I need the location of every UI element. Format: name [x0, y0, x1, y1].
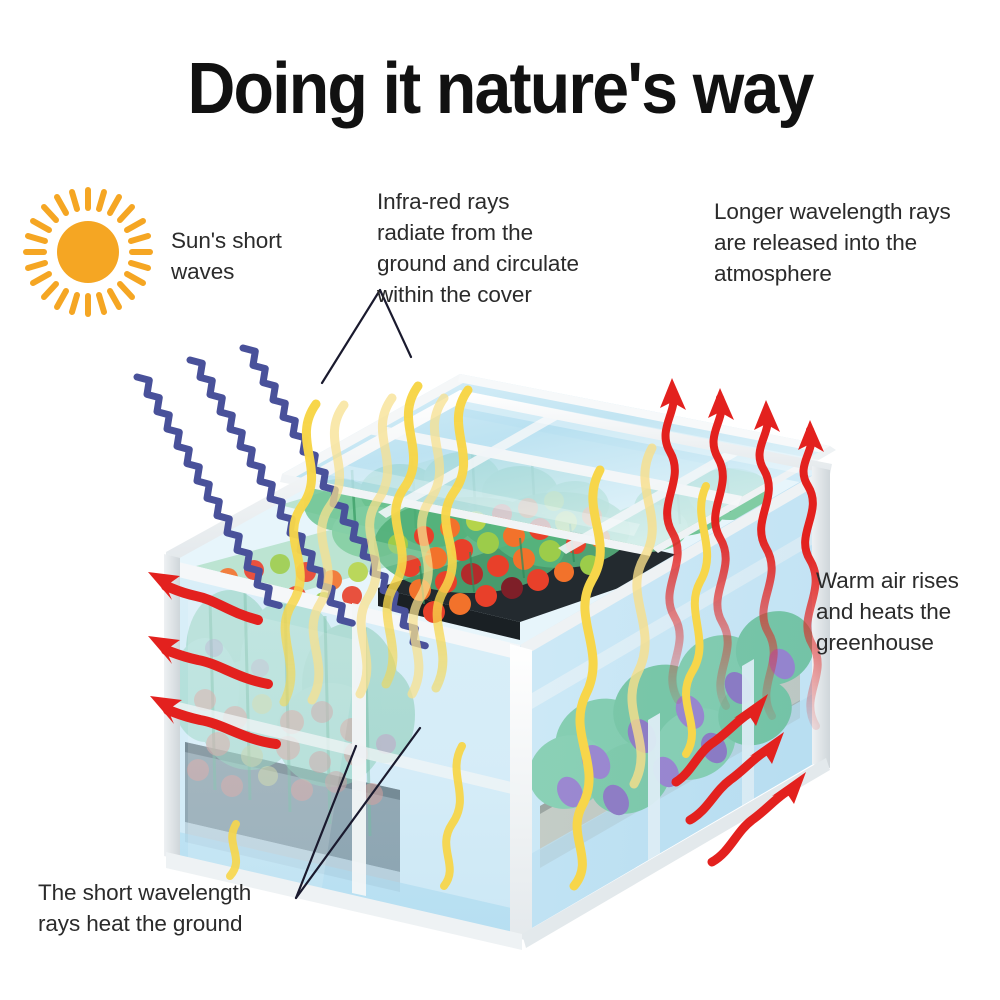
greenhouse-structure: [164, 374, 836, 950]
callout-warm-air-rises: Warm air rises and heats the greenhouse: [816, 565, 996, 658]
sun-icon: [26, 190, 150, 314]
callout-sun-short-waves: Sun's short waves: [171, 225, 401, 287]
callout-infrared-rays: Infra-red rays radiate from the ground a…: [377, 186, 627, 310]
callout-short-wavelength: The short wavelength rays heat the groun…: [38, 877, 318, 939]
callout-longer-wavelength: Longer wavelength rays are released into…: [714, 196, 974, 289]
greenhouse-illustration: [0, 0, 1000, 1000]
infographic-canvas: Doing it nature's way: [0, 0, 1000, 1000]
